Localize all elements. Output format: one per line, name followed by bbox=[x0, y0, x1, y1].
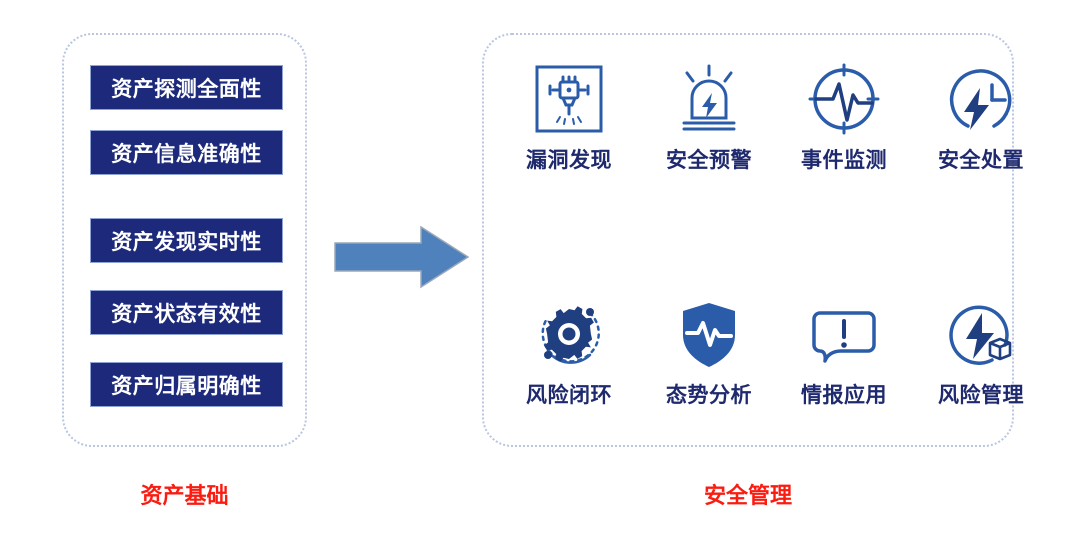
security-item-1[interactable]: 安全预警 bbox=[649, 62, 769, 174]
security-item-0[interactable]: 漏洞发现 bbox=[509, 62, 629, 174]
security-item-7[interactable]: 风险管理 bbox=[921, 297, 1041, 409]
security-item-6-label: 情报应用 bbox=[801, 379, 887, 409]
asset-foundation-caption: 资产基础 bbox=[62, 478, 307, 510]
asset-foundation-panel: 资产探测全面性 资产信息准确性 资产发现实时性 资产状态有效性 资产归属明确性 bbox=[62, 33, 307, 447]
asset-item-0-label: 资产探测全面性 bbox=[111, 73, 262, 103]
security-item-5-label: 态势分析 bbox=[666, 379, 752, 409]
security-item-2-label: 事件监测 bbox=[801, 144, 887, 174]
security-item-4[interactable]: 风险闭环 bbox=[509, 297, 629, 409]
pulse-crosshair-icon bbox=[807, 62, 881, 136]
speech-bubble-alert-icon bbox=[807, 297, 881, 371]
alarm-lamp-bolt-icon bbox=[672, 62, 746, 136]
security-management-panel: 漏洞发现 安全预警 bbox=[482, 33, 1014, 447]
security-item-7-label: 风险管理 bbox=[938, 379, 1024, 409]
asset-item-4[interactable]: 资产归属明确性 bbox=[90, 362, 283, 407]
shield-pulse-icon bbox=[672, 297, 746, 371]
circle-bolt-cube-icon bbox=[944, 297, 1018, 371]
asset-item-1[interactable]: 资产信息准确性 bbox=[90, 130, 283, 175]
security-item-4-label: 风险闭环 bbox=[526, 379, 612, 409]
asset-item-1-label: 资产信息准确性 bbox=[111, 138, 262, 168]
security-item-0-label: 漏洞发现 bbox=[526, 144, 612, 174]
security-item-5[interactable]: 态势分析 bbox=[649, 297, 769, 409]
asset-item-2-label: 资产发现实时性 bbox=[111, 226, 262, 256]
security-item-2[interactable]: 事件监测 bbox=[784, 62, 904, 174]
security-item-6[interactable]: 情报应用 bbox=[784, 297, 904, 409]
security-management-caption: 安全管理 bbox=[482, 478, 1014, 510]
diagram-canvas: 资产探测全面性 资产信息准确性 资产发现实时性 资产状态有效性 资产归属明确性 bbox=[0, 0, 1080, 548]
security-item-3-label: 安全处置 bbox=[938, 144, 1024, 174]
gear-loop-icon bbox=[532, 297, 606, 371]
clock-bolt-icon bbox=[944, 62, 1018, 136]
right-arrow-icon bbox=[333, 223, 470, 291]
asset-item-2[interactable]: 资产发现实时性 bbox=[90, 218, 283, 263]
security-item-1-label: 安全预警 bbox=[666, 144, 752, 174]
asset-item-4-label: 资产归属明确性 bbox=[111, 370, 262, 400]
asset-item-0[interactable]: 资产探测全面性 bbox=[90, 65, 283, 110]
security-item-3[interactable]: 安全处置 bbox=[921, 62, 1041, 174]
asset-item-3[interactable]: 资产状态有效性 bbox=[90, 290, 283, 335]
drill-frame-icon bbox=[532, 62, 606, 136]
asset-item-3-label: 资产状态有效性 bbox=[111, 298, 262, 328]
